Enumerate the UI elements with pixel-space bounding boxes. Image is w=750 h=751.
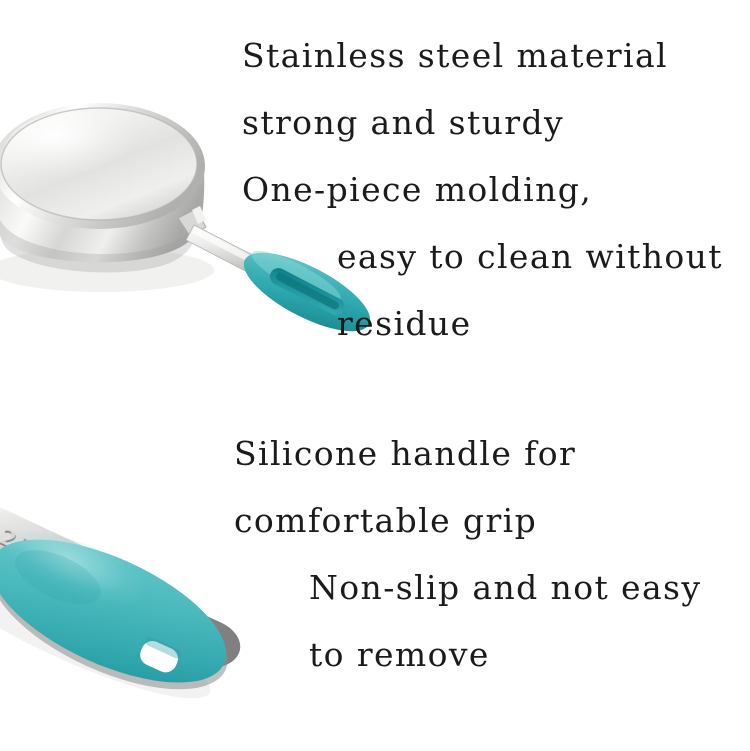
feature-line: residue xyxy=(242,290,723,357)
feature-line: easy to clean without xyxy=(242,223,723,290)
feature-line: comfortable grip xyxy=(234,487,701,554)
measuring-spoon-handle-photo: up 125mL up 125mL xyxy=(0,455,260,751)
silicone-handle-feature: Silicone handle for comfortable grip Non… xyxy=(234,420,701,688)
feature-line: strong and sturdy xyxy=(242,89,723,156)
feature-line: One-piece molding, xyxy=(242,156,723,223)
feature-line: Stainless steel material xyxy=(242,22,723,89)
feature-line: to remove xyxy=(234,621,701,688)
cup-top-sheen xyxy=(5,112,149,188)
feature-line: Non-slip and not easy xyxy=(234,554,701,621)
stainless-steel-feature: Stainless steel material strong and stur… xyxy=(242,22,723,357)
feature-line: Silicone handle for xyxy=(234,420,701,487)
product-feature-image: Stainless steel material strong and stur… xyxy=(0,0,750,751)
